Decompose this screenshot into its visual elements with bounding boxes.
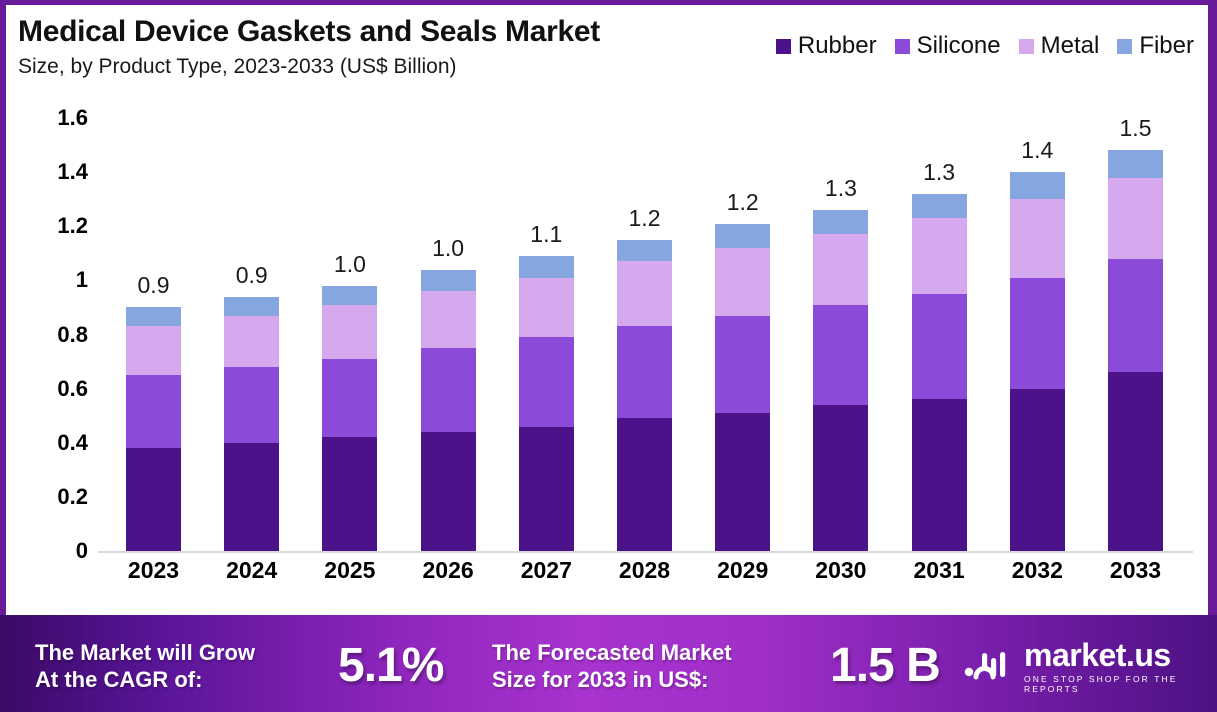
x-axis-tick-label: 2029 — [715, 557, 770, 584]
bar-segment-metal[interactable] — [519, 278, 574, 338]
x-axis-tick-label: 2032 — [1010, 557, 1065, 584]
forecast-value: 1.5 B — [830, 638, 940, 693]
bar-segment-silicone[interactable] — [715, 316, 770, 413]
y-axis-tick-label: 1.2 — [57, 213, 88, 239]
bar-value-label: 1.2 — [629, 205, 661, 232]
bar-segment-fiber[interactable] — [421, 270, 476, 292]
bar-value-label: 1.4 — [1021, 137, 1053, 164]
bar-segment-rubber[interactable] — [912, 399, 967, 551]
y-axis-tick-label: 0.8 — [57, 322, 88, 348]
bar-segment-metal[interactable] — [912, 218, 967, 294]
bar-stack[interactable] — [322, 286, 377, 551]
bar-value-label: 1.3 — [923, 159, 955, 186]
bar-series-container: 0.90.91.01.01.11.21.21.31.31.41.5 — [98, 113, 1193, 551]
bar-segment-rubber[interactable] — [617, 418, 672, 551]
bar-stack[interactable] — [519, 256, 574, 551]
bar-group[interactable]: 1.4 — [1010, 113, 1065, 551]
bar-segment-fiber[interactable] — [912, 194, 967, 218]
bar-segment-silicone[interactable] — [224, 367, 279, 443]
bar-value-label: 0.9 — [138, 272, 170, 299]
bar-segment-rubber[interactable] — [322, 437, 377, 551]
bar-stack[interactable] — [126, 307, 181, 551]
brand-tagline: ONE STOP SHOP FOR THE REPORTS — [1024, 674, 1217, 694]
x-axis-tick-label: 2031 — [912, 557, 967, 584]
bar-value-label: 1.3 — [825, 175, 857, 202]
bar-segment-metal[interactable] — [715, 248, 770, 316]
bar-segment-fiber[interactable] — [813, 210, 868, 234]
bar-segment-silicone[interactable] — [126, 375, 181, 448]
brand-logo: market.us ONE STOP SHOP FOR THE REPORTS — [963, 639, 1217, 694]
bar-segment-fiber[interactable] — [715, 224, 770, 248]
cagr-caption: The Market will Grow At the CAGR of: — [35, 640, 255, 694]
forecast-caption: The Forecasted Market Size for 2033 in U… — [492, 640, 732, 694]
bar-value-label: 1.1 — [530, 221, 562, 248]
bar-segment-silicone[interactable] — [1010, 278, 1065, 389]
bar-stack[interactable] — [912, 194, 967, 551]
bar-segment-metal[interactable] — [617, 261, 672, 326]
bar-segment-silicone[interactable] — [1108, 259, 1163, 373]
y-axis-tick-label: 0.2 — [57, 484, 88, 510]
bar-segment-fiber[interactable] — [126, 307, 181, 326]
summary-banner: The Market will Grow At the CAGR of: 5.1… — [0, 615, 1217, 712]
bar-segment-metal[interactable] — [1108, 178, 1163, 259]
bar-segment-rubber[interactable] — [421, 432, 476, 551]
bar-segment-fiber[interactable] — [519, 256, 574, 278]
bar-segment-silicone[interactable] — [813, 305, 868, 405]
bar-group[interactable]: 0.9 — [224, 113, 279, 551]
bar-group[interactable]: 1.3 — [813, 113, 868, 551]
infographic-root: Medical Device Gaskets and Seals Market … — [0, 0, 1217, 712]
x-axis-tick-label: 2027 — [519, 557, 574, 584]
bar-group[interactable]: 1.3 — [912, 113, 967, 551]
cagr-caption-line2: At the CAGR of: — [35, 667, 202, 692]
bar-segment-silicone[interactable] — [912, 294, 967, 400]
bar-segment-fiber[interactable] — [1010, 172, 1065, 199]
x-axis-tick-label: 2033 — [1108, 557, 1163, 584]
bar-segment-metal[interactable] — [813, 234, 868, 304]
bar-segment-fiber[interactable] — [1108, 150, 1163, 177]
bar-value-label: 1.2 — [727, 189, 759, 216]
bar-stack[interactable] — [1010, 172, 1065, 551]
bar-group[interactable]: 1.2 — [617, 113, 672, 551]
brand-text: market.us ONE STOP SHOP FOR THE REPORTS — [1024, 639, 1217, 694]
bar-segment-fiber[interactable] — [322, 286, 377, 305]
bar-group[interactable]: 1.1 — [519, 113, 574, 551]
bar-segment-rubber[interactable] — [519, 427, 574, 551]
bar-segment-rubber[interactable] — [813, 405, 868, 551]
bar-segment-silicone[interactable] — [322, 359, 377, 437]
bar-segment-silicone[interactable] — [519, 337, 574, 426]
y-axis-tick-label: 1.4 — [57, 159, 88, 185]
cagr-value: 5.1% — [338, 638, 443, 693]
bar-segment-metal[interactable] — [126, 326, 181, 375]
bar-segment-metal[interactable] — [322, 305, 377, 359]
bar-value-label: 0.9 — [236, 262, 268, 289]
bar-value-label: 1.0 — [432, 235, 464, 262]
forecast-caption-line2: Size for 2033 in US$: — [492, 667, 708, 692]
x-axis-tick-label: 2024 — [224, 557, 279, 584]
bar-segment-fiber[interactable] — [617, 240, 672, 262]
bar-value-label: 1.5 — [1120, 115, 1152, 142]
bar-stack[interactable] — [1108, 150, 1163, 551]
y-axis-tick-label: 0 — [76, 538, 88, 564]
bar-segment-metal[interactable] — [1010, 199, 1065, 277]
x-axis-baseline — [98, 551, 1193, 553]
bar-value-label: 1.0 — [334, 251, 366, 278]
y-axis-tick-label: 0.4 — [57, 430, 88, 456]
y-axis-tick-label: 1.6 — [57, 105, 88, 131]
x-axis-tick-label: 2023 — [126, 557, 181, 584]
bar-segment-rubber[interactable] — [1108, 372, 1163, 551]
bar-segment-silicone[interactable] — [421, 348, 476, 432]
x-axis-tick-label: 2030 — [813, 557, 868, 584]
bar-stack[interactable] — [715, 224, 770, 551]
y-axis-tick-label: 0.6 — [57, 376, 88, 402]
bar-segment-silicone[interactable] — [617, 326, 672, 418]
bar-segment-rubber[interactable] — [1010, 389, 1065, 551]
bar-group[interactable]: 1.0 — [322, 113, 377, 551]
market-us-logo-icon — [963, 647, 1015, 687]
bar-segment-rubber[interactable] — [224, 443, 279, 551]
bar-group[interactable]: 1.5 — [1108, 113, 1163, 551]
bar-segment-rubber[interactable] — [715, 413, 770, 551]
chart-canvas: Medical Device Gaskets and Seals Market … — [6, 5, 1208, 605]
bar-stack[interactable] — [224, 297, 279, 551]
bar-segment-fiber[interactable] — [224, 297, 279, 316]
bar-segment-metal[interactable] — [224, 316, 279, 367]
forecast-caption-line1: The Forecasted Market — [492, 640, 732, 665]
bar-segment-metal[interactable] — [421, 291, 476, 348]
x-axis-tick-label: 2025 — [322, 557, 377, 584]
brand-name: market.us — [1024, 639, 1217, 671]
x-axis-tick-label: 2028 — [617, 557, 672, 584]
bar-group[interactable]: 1.0 — [421, 113, 476, 551]
x-axis-tick-label: 2026 — [421, 557, 476, 584]
bar-group[interactable]: 0.9 — [126, 113, 181, 551]
cagr-caption-line1: The Market will Grow — [35, 640, 255, 665]
bar-stack[interactable] — [617, 240, 672, 551]
bar-segment-rubber[interactable] — [126, 448, 181, 551]
y-axis-tick-label: 1 — [76, 267, 88, 293]
bar-stack[interactable] — [421, 270, 476, 551]
bar-group[interactable]: 1.2 — [715, 113, 770, 551]
bar-stack[interactable] — [813, 210, 868, 551]
